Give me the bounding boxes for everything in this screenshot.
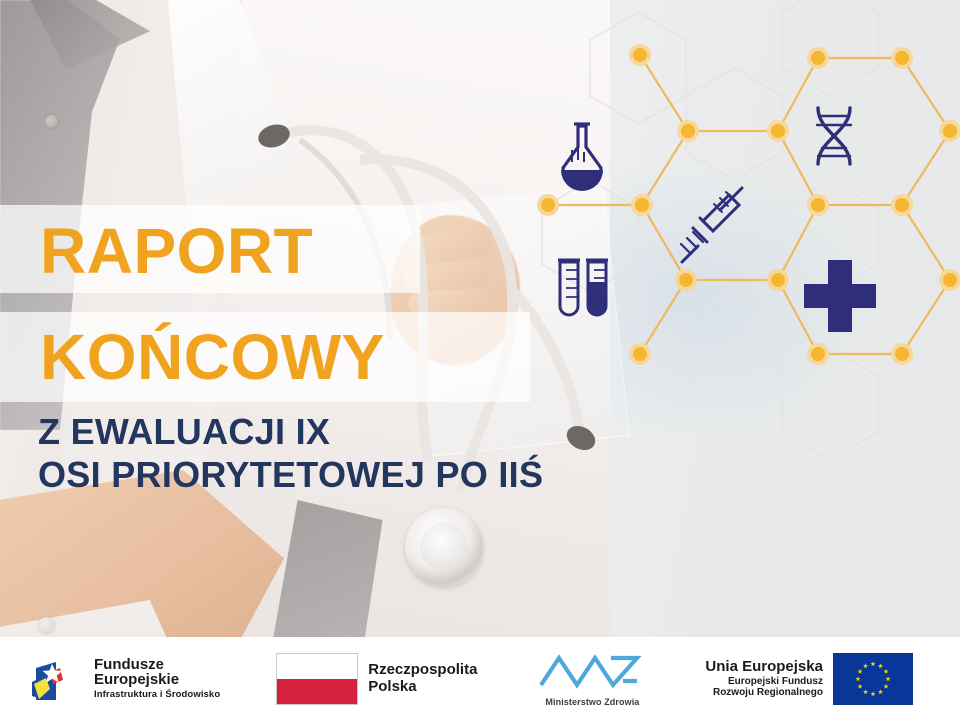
fundusze-line-1: Fundusze xyxy=(94,657,220,673)
test-tubes-icon xyxy=(558,260,608,315)
unia-europejska-text: Unia Europejska Europejski Fundusz Rozwo… xyxy=(705,659,823,698)
subtitle-line-2: OSI PRIORYTETOWEJ PO IIŚ xyxy=(38,455,543,495)
rzeczpospolita-text: Rzeczpospolita Polska xyxy=(368,662,477,695)
unia-line-3: Rozwoju Regionalnego xyxy=(705,687,823,698)
medical-icons-layer xyxy=(530,0,960,470)
logo-ministerstwo-zdrowia: Ministerstwo Zdrowia xyxy=(537,637,647,720)
fundusze-line-2: Europejskie xyxy=(94,672,220,688)
fundusze-europejskie-text: Fundusze Europejskie Infrastruktura i Śr… xyxy=(94,657,220,701)
eu-flag-icon xyxy=(833,653,913,705)
title-line-2: KOŃCOWY xyxy=(40,325,385,389)
stethoscope-chestpiece-inner xyxy=(420,523,468,571)
poland-flag-red-band xyxy=(277,679,357,704)
unia-line-2: Europejski Fundusz xyxy=(705,676,823,687)
subtitle-line-1: Z EWALUACJI IX xyxy=(38,412,330,452)
logo-fundusze-europejskie: Fundusze Europejskie Infrastruktura i Śr… xyxy=(30,637,220,720)
unia-line-1: Unia Europejska xyxy=(705,659,823,676)
flask-icon xyxy=(561,124,603,191)
dna-icon xyxy=(817,108,851,164)
ministerstwo-caption: Ministerstwo Zdrowia xyxy=(537,697,647,707)
title-line-1: RAPORT xyxy=(40,219,313,283)
report-cover-poster: RAPORT KOŃCOWY Z EWALUACJI IX OSI PRIORY… xyxy=(0,0,960,720)
shirt-button xyxy=(45,115,58,128)
eu-stars-circle-icon xyxy=(833,653,913,705)
coat-button xyxy=(38,617,55,634)
logo-unia-europejska: Unia Europejska Europejski Fundusz Rozwo… xyxy=(705,637,913,720)
footer-logo-bar: Fundusze Europejskie Infrastruktura i Śr… xyxy=(0,637,960,720)
rzeczpospolita-line-1: Rzeczpospolita xyxy=(368,662,477,679)
logo-rzeczpospolita-polska: Rzeczpospolita Polska xyxy=(276,637,477,720)
fundusze-line-3: Infrastruktura i Środowisko xyxy=(94,690,220,700)
rzeczpospolita-line-2: Polska xyxy=(368,679,477,696)
poland-flag-icon xyxy=(276,653,358,705)
syringe-icon xyxy=(681,188,742,262)
medical-cross-icon xyxy=(804,260,876,332)
fundusze-europejskie-mark-icon xyxy=(30,656,84,702)
ministerstwo-zdrowia-mark-icon xyxy=(537,651,647,691)
